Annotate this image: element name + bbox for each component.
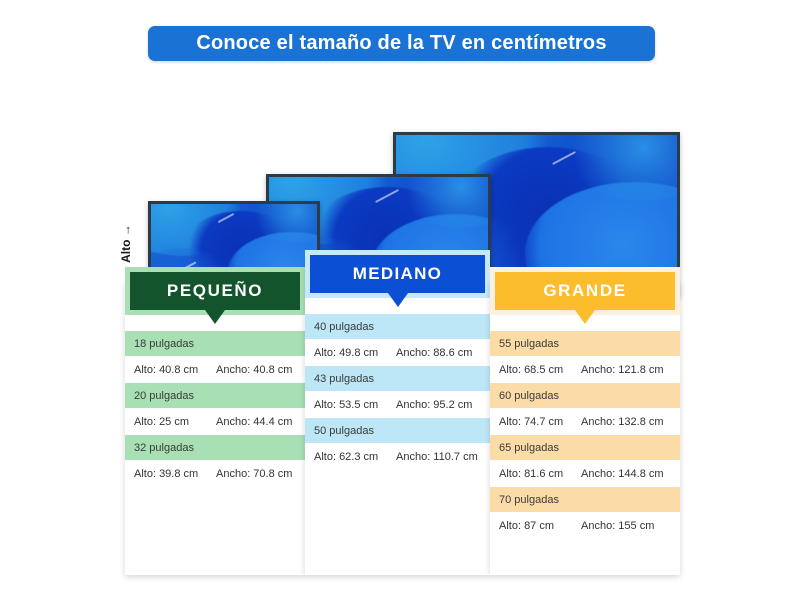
alto-value: Alto: 25 cm — [134, 416, 216, 428]
row-dimensions: Alto: 68.5 cm Ancho: 121.8 cm — [490, 356, 680, 383]
ancho-value: Ancho: 110.7 cm — [396, 451, 478, 463]
ancho-value: Ancho: 95.2 cm — [396, 399, 472, 411]
row-inches: 70 pulgadas — [490, 487, 680, 512]
size-rows-pequeno: 18 pulgadas Alto: 40.8 cm Ancho: 40.8 cm… — [125, 331, 305, 487]
page-title: Conoce el tamaño de la TV en centímetros — [196, 32, 606, 55]
card-title: MEDIANO — [353, 264, 442, 284]
inches-value: 43 pulgadas — [314, 373, 374, 385]
row-dimensions: Alto: 87 cm Ancho: 155 cm — [490, 512, 680, 539]
row-inches: 60 pulgadas — [490, 383, 680, 408]
row-inches: 50 pulgadas — [305, 418, 490, 443]
inches-value: 60 pulgadas — [499, 390, 559, 402]
alto-value: Alto: 62.3 cm — [314, 451, 396, 463]
row-inches: 43 pulgadas — [305, 366, 490, 391]
size-card-mediano: MEDIANO 40 pulgadas Alto: 49.8 cm Ancho:… — [305, 264, 490, 575]
row-inches: 65 pulgadas — [490, 435, 680, 460]
row-dimensions: Alto: 81.6 cm Ancho: 144.8 cm — [490, 460, 680, 487]
page-title-banner: Conoce el tamaño de la TV en centímetros — [148, 26, 655, 61]
header-pointer-icon — [388, 293, 408, 307]
row-dimensions: Alto: 53.5 cm Ancho: 95.2 cm — [305, 391, 490, 418]
header-pointer-icon — [205, 310, 225, 324]
infographic-page: Conoce el tamaño de la TV en centímetros — [0, 0, 800, 600]
ancho-value: Ancho: 44.4 cm — [216, 416, 292, 428]
inches-value: 50 pulgadas — [314, 425, 374, 437]
inches-value: 20 pulgadas — [134, 390, 194, 402]
alto-value: Alto: 74.7 cm — [499, 416, 581, 428]
row-inches: 55 pulgadas — [490, 331, 680, 356]
row-inches: 20 pulgadas — [125, 383, 305, 408]
row-inches: 32 pulgadas — [125, 435, 305, 460]
size-rows-mediano: 40 pulgadas Alto: 49.8 cm Ancho: 88.6 cm… — [305, 314, 490, 470]
inches-value: 70 pulgadas — [499, 494, 559, 506]
inches-value: 32 pulgadas — [134, 442, 194, 454]
row-inches: 40 pulgadas — [305, 314, 490, 339]
inches-value: 18 pulgadas — [134, 338, 194, 350]
alto-value: Alto: 49.8 cm — [314, 347, 396, 359]
alto-value: Alto: 68.5 cm — [499, 364, 581, 376]
inches-value: 40 pulgadas — [314, 321, 374, 333]
inches-value: 65 pulgadas — [499, 442, 559, 454]
ancho-value: Ancho: 70.8 cm — [216, 468, 292, 480]
card-title: PEQUEÑO — [167, 281, 263, 301]
alto-value: Alto: 53.5 cm — [314, 399, 396, 411]
ancho-value: Ancho: 155 cm — [581, 520, 654, 532]
row-dimensions: Alto: 25 cm Ancho: 44.4 cm — [125, 408, 305, 435]
ancho-value: Ancho: 40.8 cm — [216, 364, 292, 376]
alto-value: Alto: 81.6 cm — [499, 468, 581, 480]
ancho-value: Ancho: 88.6 cm — [396, 347, 472, 359]
card-title: GRANDE — [543, 281, 626, 301]
alto-value: Alto: 39.8 cm — [134, 468, 216, 480]
ancho-value: Ancho: 132.8 cm — [581, 416, 664, 428]
size-rows-grande: 55 pulgadas Alto: 68.5 cm Ancho: 121.8 c… — [490, 331, 680, 539]
alto-value: Alto: 40.8 cm — [134, 364, 216, 376]
inches-value: 55 pulgadas — [499, 338, 559, 350]
size-card-pequeno: PEQUEÑO 18 pulgadas Alto: 40.8 cm Ancho:… — [125, 281, 305, 575]
header-pointer-icon — [575, 310, 595, 324]
ancho-value: Ancho: 144.8 cm — [581, 468, 664, 480]
size-card-grande: GRANDE 55 pulgadas Alto: 68.5 cm Ancho: … — [490, 281, 680, 575]
card-header-pequeno: PEQUEÑO — [125, 267, 305, 315]
row-dimensions: Alto: 40.8 cm Ancho: 40.8 cm — [125, 356, 305, 383]
alto-value: Alto: 87 cm — [499, 520, 581, 532]
card-header-grande: GRANDE — [490, 267, 680, 315]
row-inches: 18 pulgadas — [125, 331, 305, 356]
row-dimensions: Alto: 49.8 cm Ancho: 88.6 cm — [305, 339, 490, 366]
row-dimensions: Alto: 39.8 cm Ancho: 70.8 cm — [125, 460, 305, 487]
row-dimensions: Alto: 74.7 cm Ancho: 132.8 cm — [490, 408, 680, 435]
row-dimensions: Alto: 62.3 cm Ancho: 110.7 cm — [305, 443, 490, 470]
card-header-mediano: MEDIANO — [305, 250, 490, 298]
tv-illustration: ← Alto → ← Ancho → — [0, 62, 800, 252]
ancho-value: Ancho: 121.8 cm — [581, 364, 664, 376]
